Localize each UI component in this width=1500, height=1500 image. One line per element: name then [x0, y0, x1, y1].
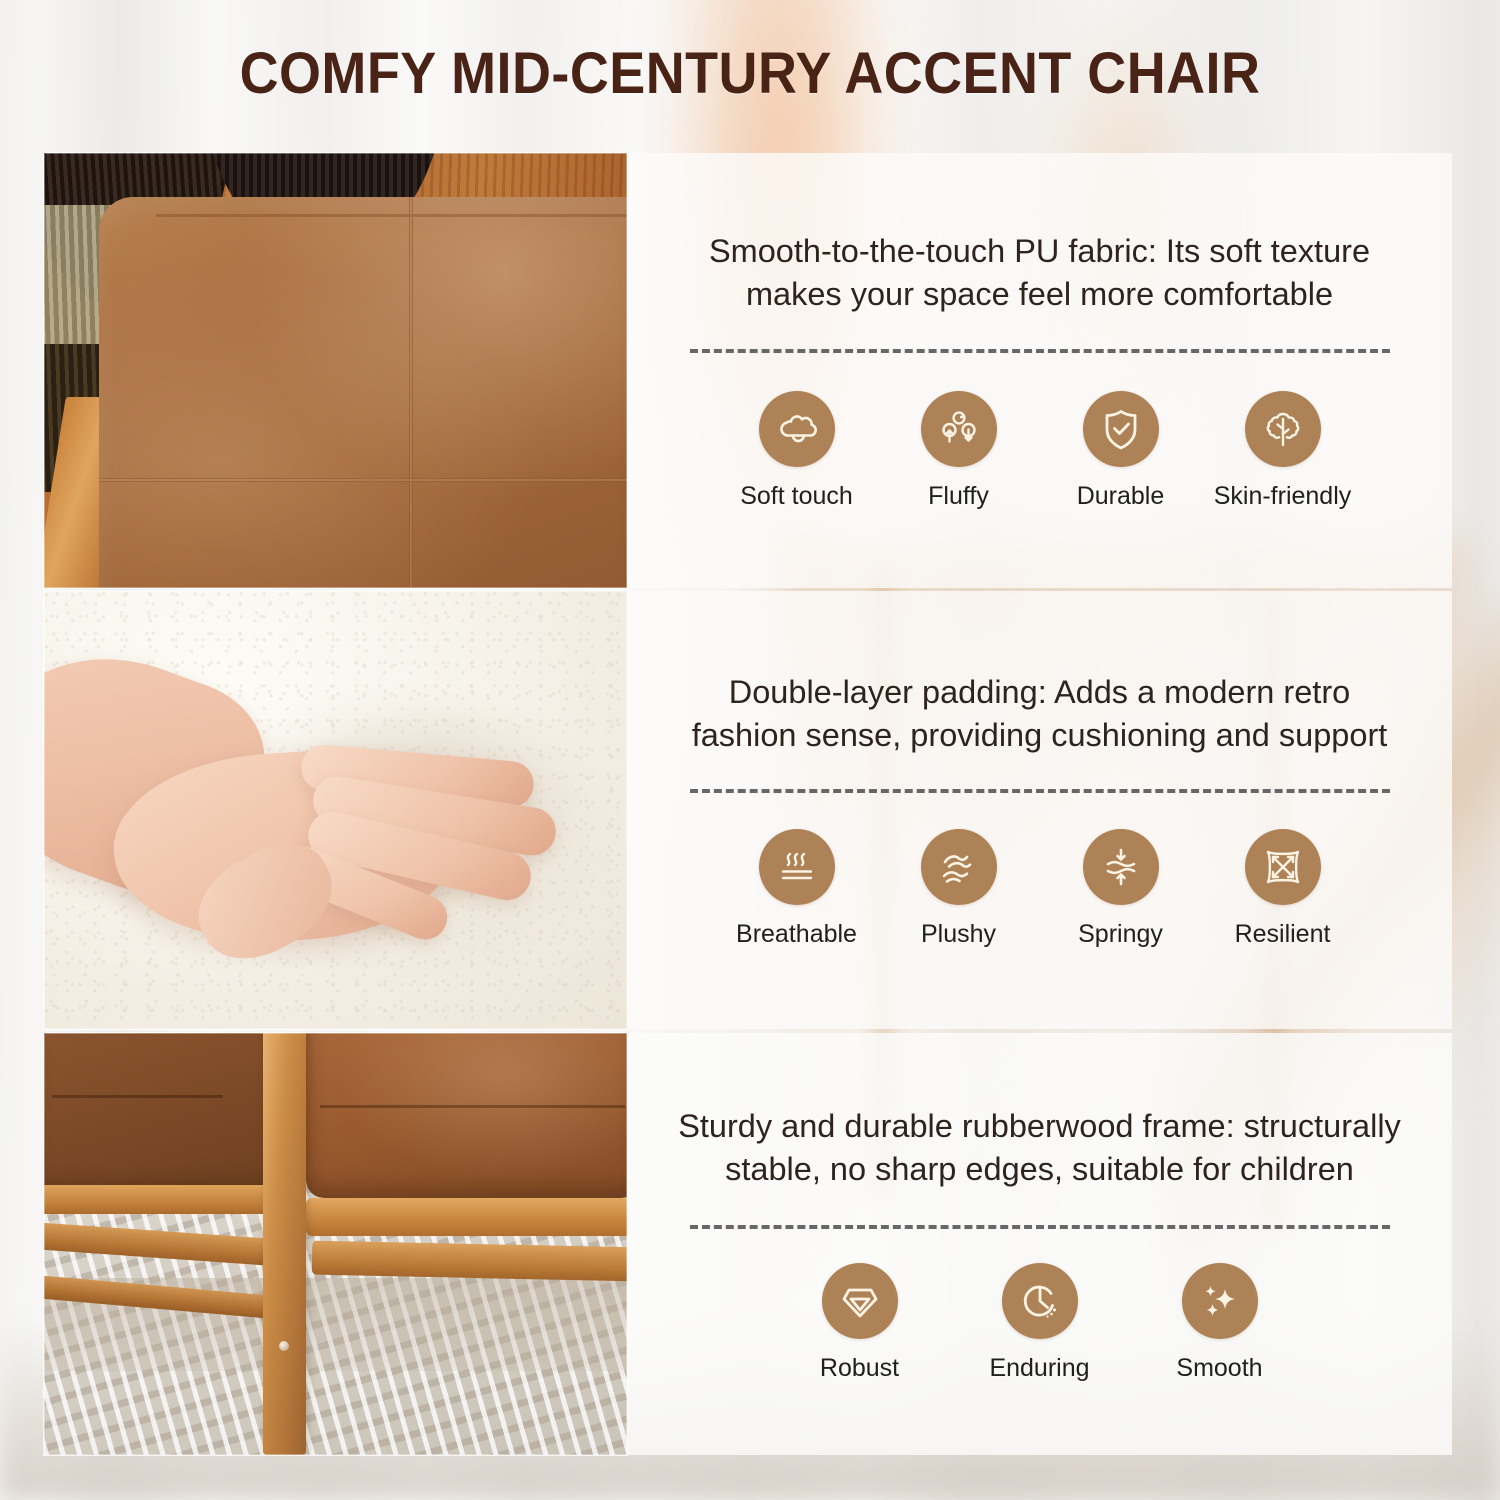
photo3-stitch — [52, 1095, 223, 1098]
feature-label: Smooth — [1176, 1354, 1262, 1383]
feature-label: Soft touch — [740, 482, 853, 511]
leaf-tree-icon — [1245, 391, 1321, 467]
resilient-cushion-icon — [1245, 829, 1321, 905]
feature-label: Resilient — [1235, 920, 1331, 949]
feature-item[interactable]: Enduring — [981, 1263, 1099, 1383]
feature-item[interactable]: Plushy — [900, 829, 1018, 949]
feature-label: Robust — [820, 1354, 899, 1383]
feature-item[interactable]: Skin-friendly — [1224, 391, 1342, 511]
dashed-divider — [690, 1225, 1390, 1229]
photo3-leather-seat-right — [306, 1033, 627, 1198]
feature-section-2: Double-layer padding: Adds a modern retr… — [44, 591, 1452, 1029]
feature-headline-1: Smooth-to-the-touch PU fabric: Its soft … — [627, 230, 1452, 316]
feature-label: Fluffy — [928, 482, 989, 511]
cotton-fluff-icon — [921, 391, 997, 467]
wavy-lines-icon — [921, 829, 997, 905]
feature-item[interactable]: Breathable — [738, 829, 856, 949]
photo3-screw — [279, 1341, 289, 1351]
photo3-wood-rail-top-left — [44, 1185, 283, 1215]
feature-panel-3: Sturdy and durable rubberwood frame: str… — [627, 1033, 1452, 1455]
photo1-seam-top — [156, 214, 627, 217]
photo3-wood-rail-mid — [312, 1241, 627, 1282]
feature-icon-row-2: Breathable Plushy — [738, 829, 1342, 949]
feature-headline-3: Sturdy and durable rubberwood frame: str… — [627, 1105, 1452, 1191]
feature-label: Enduring — [989, 1354, 1089, 1383]
feature-item[interactable]: Robust — [801, 1263, 919, 1383]
feature-icon-row-3: Robust Enduring — [801, 1263, 1279, 1383]
product-photo-leather-cushion — [44, 153, 627, 588]
feature-icon-row-1: Soft touch Fluffy — [738, 391, 1342, 511]
feature-label: Breathable — [736, 920, 857, 949]
photo3-wood-leg — [263, 1033, 307, 1455]
product-photo-foam-padding — [44, 591, 627, 1029]
feature-panel-2: Double-layer padding: Adds a modern retr… — [627, 591, 1452, 1029]
feature-item[interactable]: Smooth — [1161, 1263, 1279, 1383]
feature-label: Durable — [1077, 482, 1165, 511]
photo3-wood-rail-top — [306, 1198, 627, 1236]
cloud-icon — [759, 391, 835, 467]
photo1-seam-vertical — [409, 197, 413, 589]
feature-label: Skin-friendly — [1214, 482, 1352, 511]
photo1-seam-horizontal — [99, 478, 627, 482]
gem-diamond-icon — [822, 1263, 898, 1339]
feature-item[interactable]: Springy — [1062, 829, 1180, 949]
feature-section-1: Smooth-to-the-touch PU fabric: Its soft … — [44, 153, 1452, 588]
sparkles-icon — [1182, 1263, 1258, 1339]
dashed-divider — [690, 789, 1390, 793]
product-photo-wood-frame — [44, 1033, 627, 1455]
page-title: COMFY MID-CENTURY ACCENT CHAIR — [53, 40, 1448, 107]
feature-item[interactable]: Durable — [1062, 391, 1180, 511]
clock-icon — [1002, 1263, 1078, 1339]
feature-label: Springy — [1078, 920, 1163, 949]
feature-label: Plushy — [921, 920, 996, 949]
shield-check-icon — [1083, 391, 1159, 467]
photo1-leather-cushion — [99, 197, 627, 589]
feature-item[interactable]: Fluffy — [900, 391, 1018, 511]
photo3-leather-seat-left — [44, 1033, 277, 1193]
breathable-heat-waves-icon — [759, 829, 835, 905]
feature-item[interactable]: Soft touch — [738, 391, 856, 511]
feature-panel-1: Smooth-to-the-touch PU fabric: Its soft … — [627, 153, 1452, 588]
photo3-stitch — [320, 1105, 626, 1108]
feature-item[interactable]: Resilient — [1224, 829, 1342, 949]
feature-headline-2: Double-layer padding: Adds a modern retr… — [627, 671, 1452, 757]
feature-section-3: Sturdy and durable rubberwood frame: str… — [44, 1033, 1452, 1455]
dashed-divider — [690, 349, 1390, 353]
compression-arrows-icon — [1083, 829, 1159, 905]
